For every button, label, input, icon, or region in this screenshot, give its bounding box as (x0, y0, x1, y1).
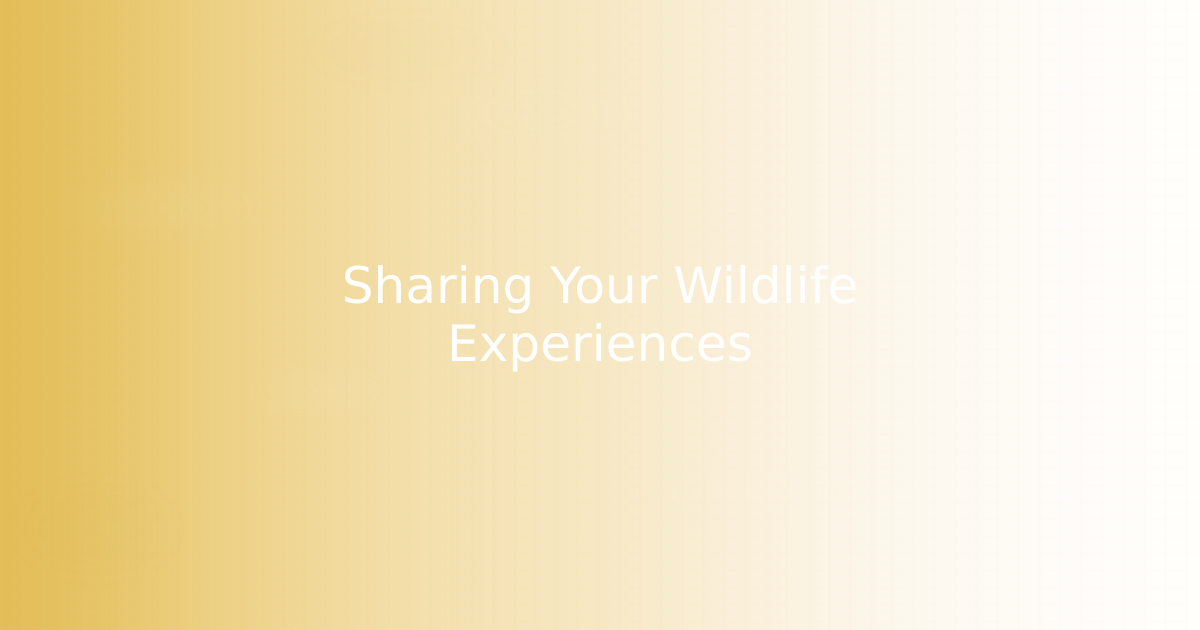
banner-title: Sharing Your Wildlife Experiences (320, 257, 880, 373)
banner-content: Sharing Your Wildlife Experiences (0, 257, 1200, 373)
hero-banner: Sharing Your Wildlife Experiences (0, 0, 1200, 630)
